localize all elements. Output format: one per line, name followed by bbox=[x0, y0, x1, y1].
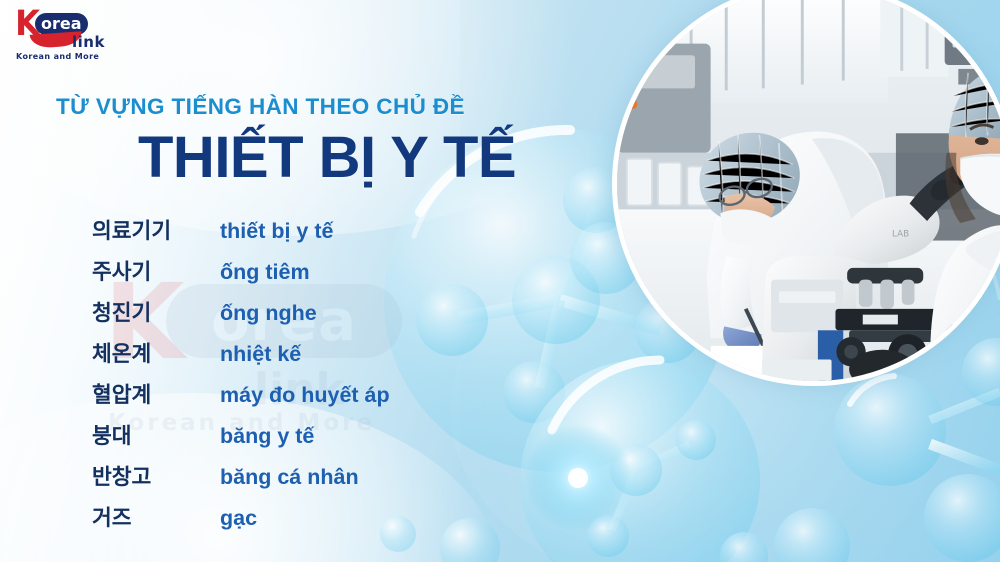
svg-text:LAB: LAB bbox=[892, 230, 909, 240]
vietnamese-term: ống tiêm bbox=[220, 260, 310, 285]
korean-term: 반창고 bbox=[92, 460, 220, 491]
lab-photo-image: LAB bbox=[617, 0, 1000, 381]
korea-link-logo[interactable]: K orea link Korean and More bbox=[14, 9, 132, 61]
vocab-row: 의료기기 thiết bị y tế bbox=[92, 214, 512, 255]
logo-mark: K orea link bbox=[14, 9, 132, 43]
vocab-row: 청진기 ống nghe bbox=[92, 296, 512, 337]
korean-term: 붕대 bbox=[92, 419, 220, 450]
korean-term: 체온계 bbox=[92, 337, 220, 368]
slide-canvas: K orea link Korean and More bbox=[0, 0, 1000, 562]
korean-term: 의료기기 bbox=[92, 214, 220, 245]
vietnamese-term: băng y tế bbox=[220, 424, 314, 449]
lab-photo-circle: LAB bbox=[612, 0, 1000, 386]
korean-term: 거즈 bbox=[92, 501, 220, 532]
vocab-row: 혈압계 máy đo huyết áp bbox=[92, 378, 512, 419]
korean-term: 청진기 bbox=[92, 296, 220, 327]
page-title: THIẾT BỊ Y TẾ bbox=[138, 124, 516, 191]
vietnamese-term: nhiệt kế bbox=[220, 342, 301, 367]
topic-subtitle: TỪ VỰNG TIẾNG HÀN THEO CHỦ ĐỀ bbox=[56, 94, 465, 120]
vocabulary-list: 의료기기 thiết bị y tế 주사기 ống tiêm 청진기 ống … bbox=[92, 214, 512, 542]
vietnamese-term: thiết bị y tế bbox=[220, 219, 333, 244]
logo-link-text: link bbox=[72, 33, 105, 51]
logo-tagline: Korean and More bbox=[16, 52, 99, 61]
korean-term: 주사기 bbox=[92, 255, 220, 286]
vietnamese-term: gạc bbox=[220, 506, 257, 531]
vocab-row: 거즈 gạc bbox=[92, 501, 512, 542]
vocab-row: 주사기 ống tiêm bbox=[92, 255, 512, 296]
korean-term: 혈압계 bbox=[92, 378, 220, 409]
vocab-row: 반창고 băng cá nhân bbox=[92, 460, 512, 501]
vietnamese-term: máy đo huyết áp bbox=[220, 383, 390, 408]
vocab-row: 붕대 băng y tế bbox=[92, 419, 512, 460]
vietnamese-term: ống nghe bbox=[220, 301, 317, 326]
vocab-row: 체온계 nhiệt kế bbox=[92, 337, 512, 378]
logo-orea-text: orea bbox=[41, 16, 82, 32]
vietnamese-term: băng cá nhân bbox=[220, 465, 359, 490]
